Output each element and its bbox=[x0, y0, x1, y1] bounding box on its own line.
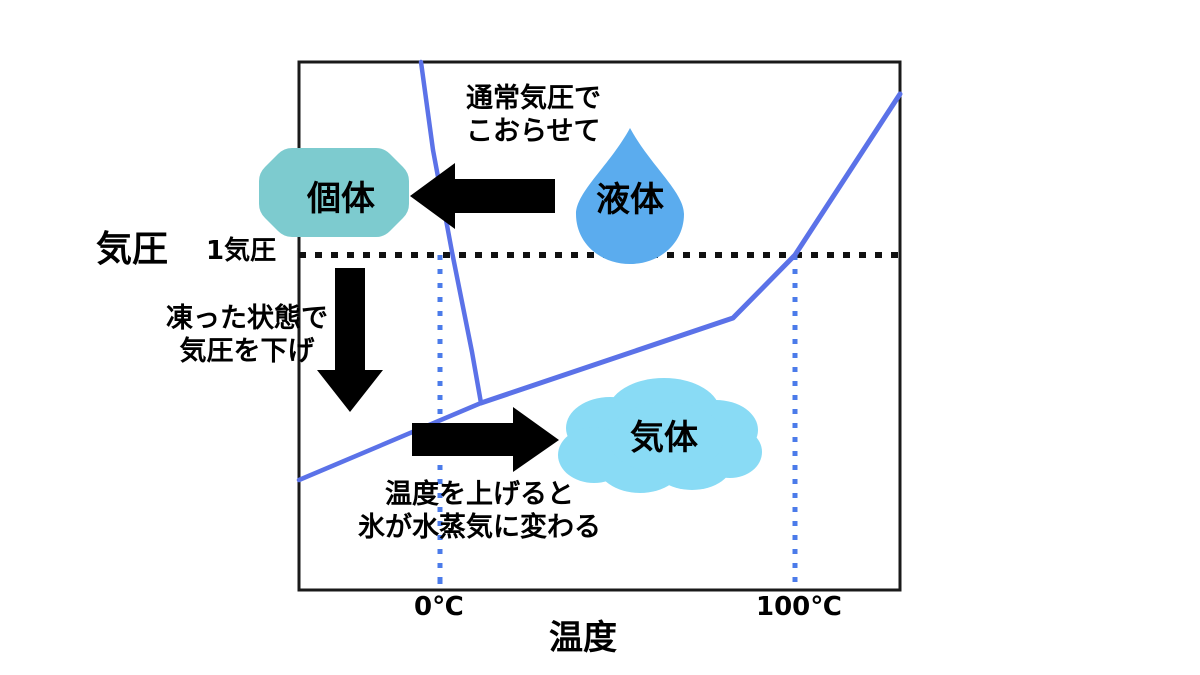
gas-phase-label: 気体 bbox=[612, 410, 716, 459]
phase-diagram-figure: 気圧 1気圧 温度 0℃ 100℃ 通常気圧で こおらせて 凍った状態で 気圧を… bbox=[0, 0, 1200, 675]
y-axis-tick-1atm: 1気圧 bbox=[206, 236, 276, 268]
solid-phase-label: 個体 bbox=[286, 171, 396, 220]
annotation-sublimate: 温度を上げると 氷が水蒸気に変わる bbox=[358, 479, 601, 545]
freeze-arrow-left bbox=[410, 163, 555, 229]
x-axis-label: 温度 bbox=[549, 618, 617, 659]
sublimate-arrow-right bbox=[412, 407, 559, 472]
annotation-freeze: 通常気圧で こおらせて bbox=[466, 83, 601, 149]
liquid-phase-label: 液体 bbox=[578, 172, 682, 221]
y-axis-label: 気圧 bbox=[96, 228, 168, 272]
x-axis-tick-100c: 100℃ bbox=[756, 592, 842, 624]
annotation-depressurize: 凍った状態で 気圧を下げ bbox=[166, 303, 328, 369]
x-axis-tick-0c: 0℃ bbox=[414, 592, 464, 624]
